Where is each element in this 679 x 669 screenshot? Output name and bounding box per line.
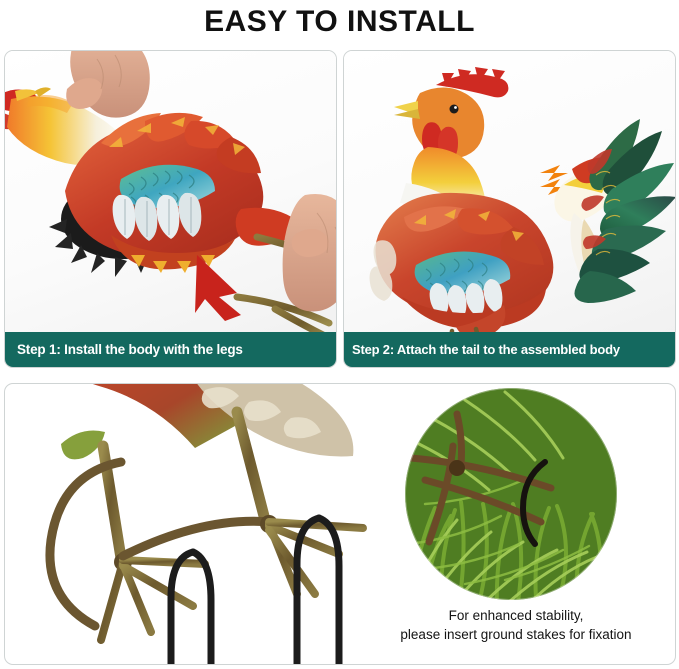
left-claws <box>101 560 205 640</box>
step-1-caption: Step 1: Install the body with the legs <box>5 332 336 367</box>
panel-step-2: Step 2: Attach the tail to the assembled… <box>343 50 676 368</box>
right-claws <box>269 522 363 594</box>
detached-tail <box>554 119 675 303</box>
step-2-caption: Step 2: Attach the tail to the assembled… <box>344 332 675 367</box>
panel-ground-stakes: For enhanced stability, please insert gr… <box>4 383 676 665</box>
step-1-photo <box>5 51 336 334</box>
red-fin-piece <box>195 255 241 321</box>
stability-note-line-2: please insert ground stakes for fixation <box>361 625 671 644</box>
install-instructions-page: EASY TO INSTALL <box>0 0 679 669</box>
panel-step-1: Step 1: Install the body with the legs <box>4 50 337 368</box>
hand-top <box>66 51 150 118</box>
rooster-body-assembly-illustration <box>5 51 336 334</box>
breast-feathers <box>370 240 397 301</box>
step-2-photo <box>344 51 675 334</box>
stability-note-line-1: For enhanced stability, <box>361 606 671 625</box>
inset-joint <box>449 460 465 476</box>
page-title: EASY TO INSTALL <box>0 4 679 40</box>
stability-note: For enhanced stability, please insert gr… <box>361 606 671 644</box>
grass-blades <box>405 388 617 612</box>
hand-right <box>283 194 336 311</box>
eye <box>450 105 459 114</box>
grass-inset-group <box>405 388 617 612</box>
rooster-tail-attachment-illustration <box>344 51 675 334</box>
ground-stake-right <box>297 518 339 664</box>
